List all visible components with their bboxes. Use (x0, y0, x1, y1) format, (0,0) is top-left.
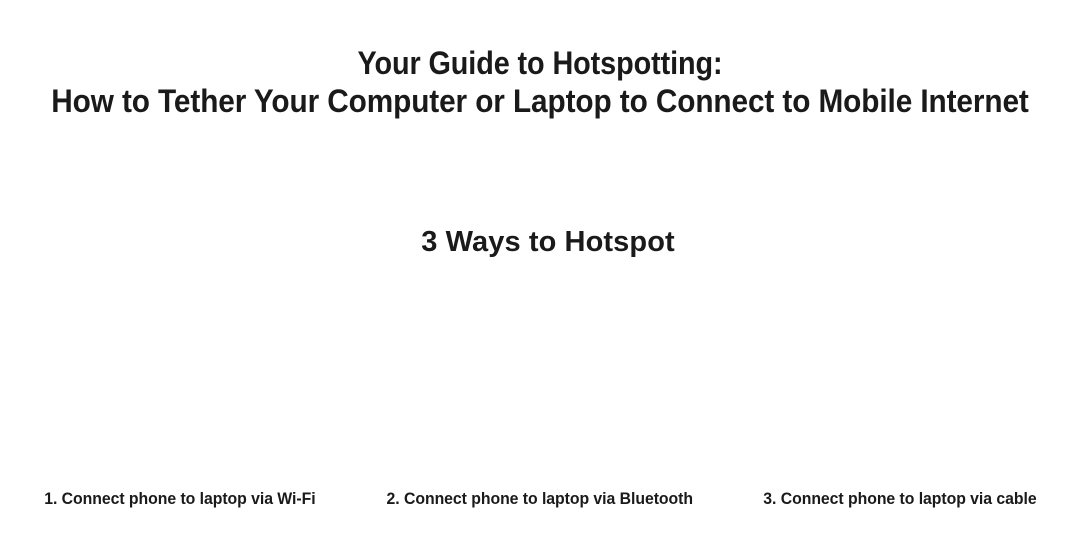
page-title: Your Guide to Hotspotting: How to Tether… (0, 44, 1080, 120)
title-line-1: Your Guide to Hotspotting: (54, 44, 1026, 82)
caption-row: 1. Connect phone to laptop via Wi-Fi 2. … (0, 488, 1080, 510)
method-caption-1: 1. Connect phone to laptop via Wi-Fi (0, 488, 360, 510)
title-line-2: How to Tether Your Computer or Laptop to… (38, 82, 1042, 120)
infographic-page: Your Guide to Hotspotting: How to Tether… (0, 0, 1080, 552)
method-caption-2: 2. Connect phone to laptop via Bluetooth (360, 488, 720, 510)
caption-text: 3. Connect phone to laptop via cable (763, 488, 1036, 510)
illustration-row (0, 276, 1080, 476)
caption-text: 2. Connect phone to laptop via Bluetooth (387, 488, 693, 510)
wifi-tethering-illustration (0, 276, 360, 476)
section-subtitle: 3 Ways to Hotspot (0, 224, 1080, 260)
caption-text: 1. Connect phone to laptop via Wi-Fi (44, 488, 315, 510)
bluetooth-tethering-illustration (360, 276, 720, 476)
method-caption-3: 3. Connect phone to laptop via cable (720, 488, 1080, 510)
cable-tethering-illustration (720, 276, 1080, 476)
